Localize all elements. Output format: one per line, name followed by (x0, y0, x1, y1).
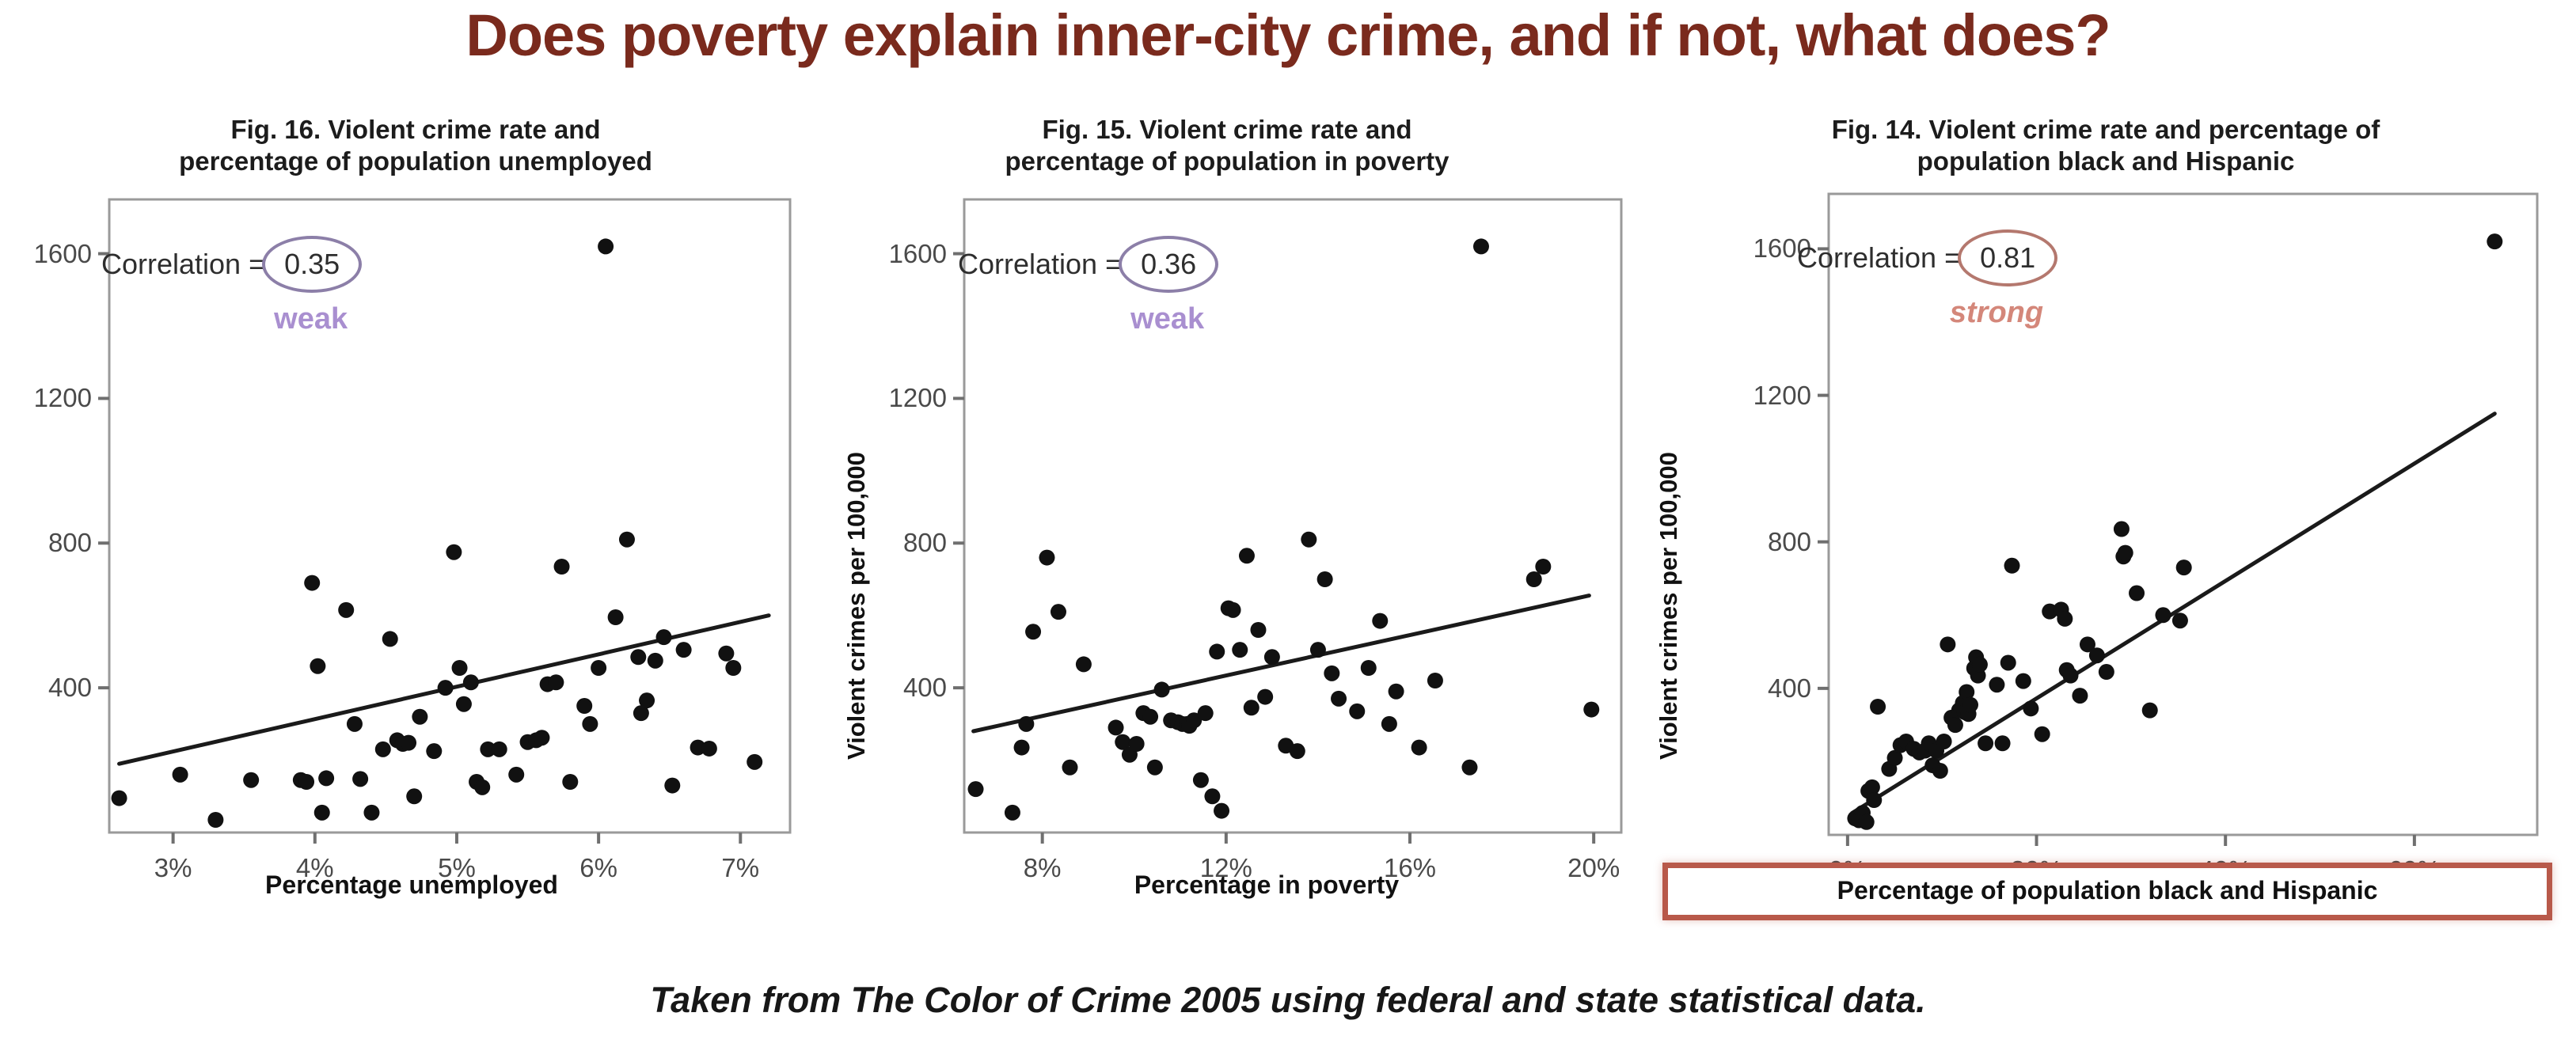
correlation-value-oval: 0.35 (262, 236, 362, 293)
scatter-point (591, 660, 606, 676)
scatter-point (1331, 691, 1347, 707)
scatter-point (598, 238, 614, 254)
y-tick-label: 400 (1768, 673, 1811, 704)
scatter-point (725, 660, 741, 676)
scatter-point (338, 602, 354, 618)
scatter-point (2072, 688, 2088, 704)
scatter-point (2016, 673, 2031, 689)
scatter-point (2023, 700, 2038, 716)
scatter-point (1147, 760, 1163, 776)
scatter-point (576, 698, 592, 714)
scatter-point (664, 778, 680, 794)
scatter-point (314, 805, 330, 821)
scatter-point (1062, 760, 1077, 776)
scatter-point (534, 730, 549, 745)
scatter-point (1349, 704, 1365, 719)
x-axis-title-fig15: Percentage in poverty (918, 870, 1615, 900)
scatter-point (1204, 788, 1220, 804)
scatter-point (1018, 716, 1034, 732)
scatter-point (1461, 760, 1477, 776)
y-tick-labels-fig16: 40080012001600 (16, 111, 92, 965)
y-tick-label: 1600 (889, 239, 947, 269)
scatter-point (718, 646, 734, 662)
scatter-point (2089, 647, 2105, 663)
scatter-point (1962, 697, 1978, 713)
scatter-point (382, 631, 398, 647)
scatter-point (1014, 740, 1030, 756)
scatter-point (608, 609, 624, 625)
correlation-annotation-fig14: Correlation = 0.81 strong (1797, 229, 2057, 330)
scatter-point (968, 781, 984, 797)
plot-area-fig15: Violent crimes per 100,000 4008001200160… (815, 111, 1639, 965)
scatter-point (548, 674, 564, 690)
scatter-point (2142, 703, 2158, 719)
slide-root: Does poverty explain inner-city crime, a… (0, 0, 2576, 1062)
scatter-point (1257, 689, 1273, 705)
scatter-point (1039, 550, 1054, 566)
scatter-point (1290, 743, 1305, 759)
scatter-point (1473, 238, 1489, 254)
scatter-point (1209, 643, 1225, 659)
source-caption: Taken from The Color of Crime 2005 using… (0, 980, 2576, 1021)
scatter-point (426, 743, 442, 759)
scatter-point (243, 772, 259, 788)
scatter-point (1372, 613, 1388, 629)
scatter-point (1076, 656, 1092, 672)
scatter-point (474, 779, 490, 795)
scatter-point (2000, 654, 2016, 670)
scatter-point (582, 716, 598, 732)
scatter-point (310, 658, 325, 674)
scatter-point (438, 680, 454, 696)
scatter-point (1389, 684, 1404, 700)
scatter-point (1051, 604, 1066, 620)
plot-area-fig16: 40080012001600 3%4%5%6%7% Correlation = … (16, 111, 815, 965)
scatter-point (401, 735, 416, 751)
scatter-point (1866, 792, 1882, 808)
scatter-point (1154, 681, 1170, 697)
correlation-value-oval: 0.81 (1958, 229, 2057, 286)
correlation-annotation-fig15: Correlation = 0.36 weak (958, 236, 1218, 336)
scatter-point (1193, 772, 1209, 788)
y-tick-label: 800 (48, 528, 92, 558)
scatter-point (173, 767, 188, 783)
scatter-point (1264, 649, 1280, 665)
scatter-point (554, 559, 570, 575)
scatter-point (1870, 699, 1886, 715)
scatter-point (1411, 740, 1427, 756)
correlation-strength: weak (958, 302, 1218, 336)
scatter-point (2114, 522, 2130, 537)
scatter-point (304, 575, 320, 591)
scatter-point (363, 805, 379, 821)
scatter-point (619, 532, 635, 548)
y-tick-label: 1600 (34, 239, 92, 269)
scatter-point (1250, 622, 1266, 638)
plot-area-fig14: Violent crimes per 100,000 4008001200160… (1639, 111, 2573, 965)
scatter-point (1995, 735, 2011, 751)
y-tick-label: 800 (903, 528, 947, 558)
scatter-point (1142, 709, 1158, 725)
scatter-point (1947, 717, 1963, 733)
scatter-point (562, 774, 578, 790)
scatter-point (1025, 624, 1041, 639)
scatter-point (2118, 545, 2133, 561)
y-tick-labels-fig15: 40080012001600 (815, 111, 947, 965)
scatter-point (1381, 716, 1397, 732)
scatter-point (2062, 668, 2078, 684)
scatter-point (207, 812, 223, 828)
scatter-point (2035, 726, 2050, 742)
scatter-point (2155, 607, 2171, 623)
scatter-point (452, 660, 468, 676)
scatter-point (747, 754, 762, 770)
scatter-point (1129, 736, 1145, 752)
page-title: Does poverty explain inner-city crime, a… (0, 2, 2576, 69)
y-tick-label: 400 (48, 673, 92, 703)
chart-panel-fig14: Fig. 14. Violent crime rate and percenta… (1639, 111, 2573, 965)
y-tick-labels-fig14: 40080012001600 (1639, 111, 1811, 965)
scatter-point (1005, 805, 1020, 821)
x-axis-title-fig14: Percentage of population black and Hispa… (1662, 863, 2552, 920)
scatter-point (1940, 636, 1955, 652)
scatter-point (1859, 814, 1875, 830)
scatter-point (406, 788, 422, 804)
scatter-point (1932, 763, 1948, 779)
scatter-point (412, 709, 427, 725)
scatter-point (2172, 613, 2188, 628)
scatter-point (1301, 532, 1316, 548)
scatter-point (352, 771, 368, 787)
correlation-line: Correlation = 0.36 (958, 236, 1218, 293)
correlation-line: Correlation = 0.35 (101, 236, 362, 293)
scatter-point (1239, 548, 1255, 563)
scatter-point (1361, 660, 1377, 676)
scatter-point (1324, 666, 1339, 681)
chart-panel-fig16: Fig. 16. Violent crime rate and percenta… (16, 111, 815, 965)
correlation-value-oval: 0.36 (1119, 236, 1218, 293)
scatter-point (1989, 677, 2004, 692)
correlation-annotation-fig16: Correlation = 0.35 weak (101, 236, 362, 336)
scatter-point (2004, 558, 2020, 574)
scatter-point (1978, 735, 1993, 751)
scatter-point (492, 742, 507, 757)
scatter-point (2129, 586, 2145, 601)
scatter-point (648, 653, 663, 669)
scatter-point (1427, 673, 1443, 688)
scatter-point (298, 774, 314, 790)
scatter-point (1583, 702, 1599, 718)
correlation-label: Correlation = (101, 248, 265, 281)
scatter-point (1972, 657, 1988, 673)
scatter-point (2487, 233, 2502, 249)
scatter-point (701, 741, 717, 757)
chart-panel-fig15: Fig. 15. Violent crime rate and percenta… (815, 111, 1639, 965)
scatter-point (1198, 705, 1214, 721)
correlation-strength: weak (101, 302, 362, 336)
scatter-point (508, 767, 524, 783)
scatter-point (446, 544, 462, 560)
scatter-point (456, 696, 472, 712)
scatter-point (2176, 559, 2192, 575)
correlation-label: Correlation = (1797, 241, 1961, 275)
scatter-point (656, 629, 672, 645)
scatter-point (375, 742, 391, 757)
correlation-strength: strong (1797, 296, 2057, 330)
scatter-point (1535, 559, 1551, 575)
scatter-point (2057, 611, 2073, 627)
scatter-point (347, 716, 363, 732)
y-tick-label: 400 (903, 673, 947, 703)
scatter-point (1526, 571, 1542, 587)
scatter-point (112, 791, 127, 806)
scatter-point (1936, 734, 1952, 749)
scatter-point (639, 692, 655, 708)
x-axis-title-fig16: Percentage unemployed (63, 870, 760, 900)
charts-row: Fig. 16. Violent crime rate and percenta… (0, 111, 2576, 965)
scatter-point (318, 770, 334, 786)
scatter-point (1214, 803, 1229, 819)
y-tick-label: 1200 (889, 383, 947, 413)
scatter-point (1225, 602, 1241, 618)
y-tick-label: 800 (1768, 527, 1811, 557)
y-tick-label: 1200 (34, 383, 92, 413)
scatter-point (1317, 571, 1333, 587)
scatter-point (1310, 642, 1326, 658)
scatter-point (1232, 642, 1248, 658)
correlation-label: Correlation = (958, 248, 1122, 281)
correlation-line: Correlation = 0.81 (1797, 229, 2057, 286)
scatter-point (463, 674, 479, 690)
scatter-point (1108, 719, 1124, 735)
scatter-point (1244, 700, 1260, 715)
scatter-point (2099, 664, 2114, 680)
scatter-point (676, 642, 692, 658)
scatter-point (630, 649, 646, 665)
y-tick-label: 1200 (1753, 381, 1811, 411)
